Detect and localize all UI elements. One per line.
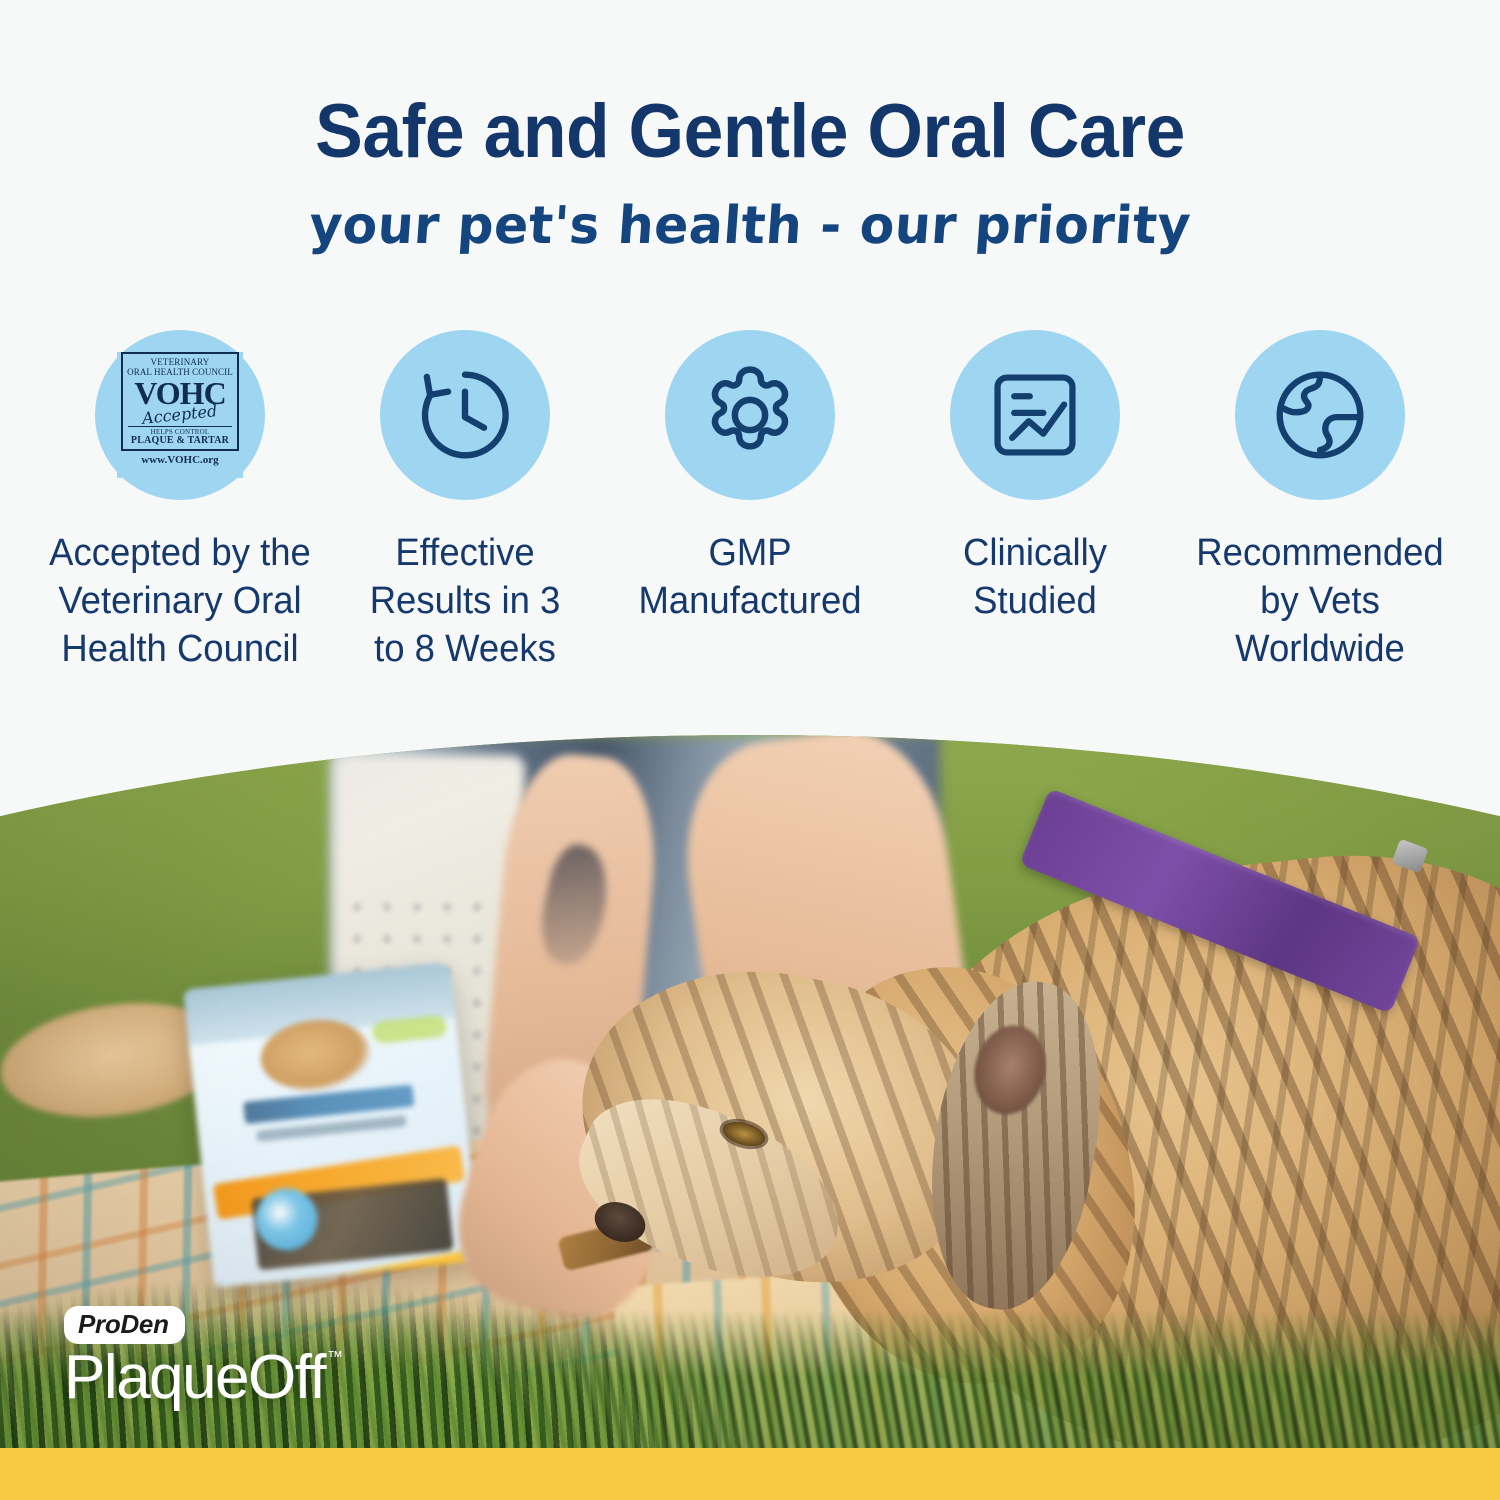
page-title: Safe and Gentle Oral Care — [45, 88, 1455, 175]
bottom-accent-bar — [0, 1448, 1500, 1500]
feature-recommended-by-vets: Recommended by Vets Worldwide — [1200, 330, 1440, 790]
chart-trend-icon — [950, 330, 1120, 500]
page-subtitle: your pet's health - our priority — [20, 196, 1479, 256]
feature-badge-row: VETERINARY ORAL HEALTH COUNCIL VOHC Acce… — [0, 330, 1500, 790]
feature-gmp-manufactured: GMP Manufactured — [630, 330, 870, 790]
feature-label: Effective Results in 3 to 8 Weeks — [350, 530, 580, 674]
foreground-grass-left — [0, 1266, 760, 1450]
vohc-url: www.VOHC.org — [141, 455, 218, 466]
vohc-accepted-script: Accepted — [142, 403, 219, 427]
vohc-claim: PLAQUE & TARTAR — [131, 436, 229, 446]
feature-label: Accepted by the Veterinary Oral Health C… — [36, 530, 324, 674]
feature-label: Clinically Studied — [920, 530, 1150, 626]
vohc-line1: VETERINARY — [151, 358, 210, 367]
vohc-seal-icon: VETERINARY ORAL HEALTH COUNCIL VOHC Acce… — [95, 330, 265, 500]
product-bag — [183, 962, 481, 1288]
feature-clinically-studied: Clinically Studied — [915, 330, 1155, 790]
feature-effective-results: Effective Results in 3 to 8 Weeks — [345, 330, 585, 790]
feature-label: GMP Manufactured — [635, 530, 865, 626]
feature-vohc-accepted: VETERINARY ORAL HEALTH COUNCIL VOHC Acce… — [60, 330, 300, 790]
lifestyle-photo — [0, 735, 1500, 1450]
feature-label: Recommended by Vets Worldwide — [1176, 530, 1464, 674]
clock-rotate-icon — [380, 330, 550, 500]
globe-icon — [1235, 330, 1405, 500]
product-infographic: Safe and Gentle Oral Care your pet's hea… — [0, 0, 1500, 1500]
gear-icon — [665, 330, 835, 500]
